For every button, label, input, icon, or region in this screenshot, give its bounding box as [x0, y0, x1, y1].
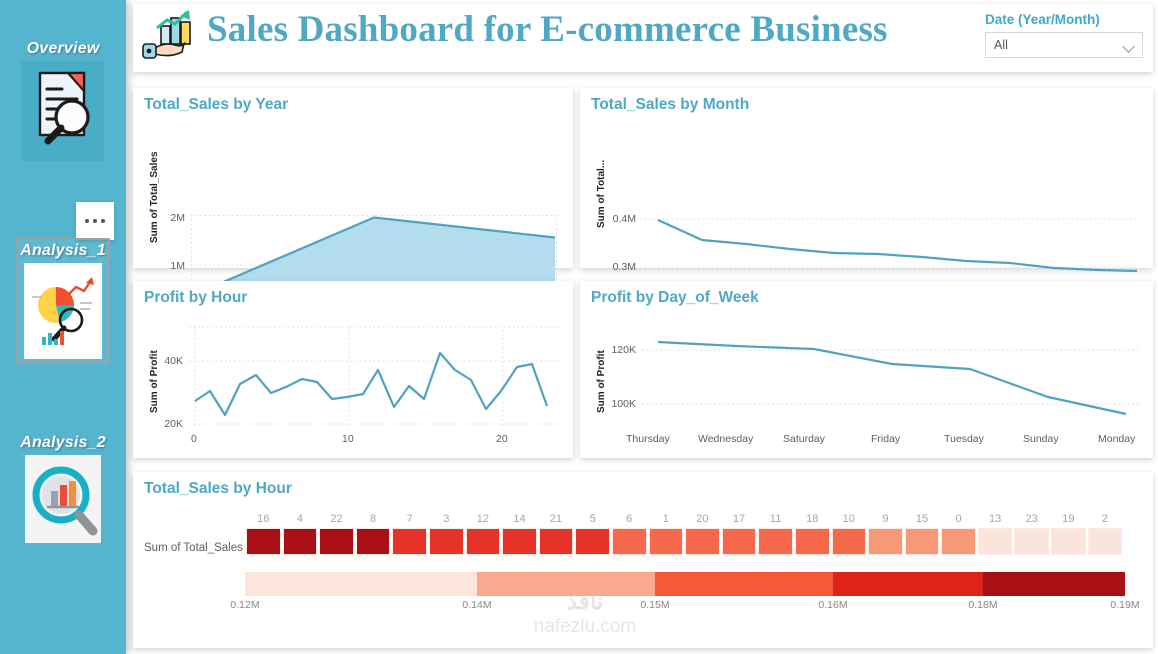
heatmap-column[interactable]: 15 — [904, 510, 941, 555]
heatmap-cell[interactable] — [1088, 528, 1123, 555]
date-filter-select[interactable]: All — [985, 32, 1143, 58]
heatmap-column-label: 20 — [696, 510, 708, 528]
heatmap-cell[interactable] — [539, 528, 574, 555]
heatmap-cell[interactable] — [502, 528, 537, 555]
heatmap-cell[interactable] — [941, 528, 976, 555]
heatmap-column-label: 8 — [370, 510, 376, 528]
heatmap-column[interactable]: 5 — [574, 510, 611, 555]
y-tick: 40K — [151, 355, 183, 367]
heatmap-column[interactable]: 0 — [940, 510, 977, 555]
x-tick: Tuesday — [944, 433, 984, 445]
heatmap-column-label: 11 — [770, 510, 781, 528]
heatmap-column[interactable]: 17 — [721, 510, 758, 555]
legend-tick: 0.14M — [462, 599, 491, 611]
chart-card-total-sales-by-hour: Total_Sales by Hour Sum of Total_Sales 1… — [133, 472, 1153, 648]
heatmap-column-label: 17 — [733, 510, 745, 528]
y-tick: 1M — [155, 260, 185, 272]
heatmap-column-label: 5 — [590, 510, 596, 528]
line-chart-plot — [642, 325, 1140, 425]
chart-card-profit-by-hour: Profit by Hour Sum of Profit 40K 20K 0 1… — [133, 281, 573, 458]
sidebar-item-analysis-1[interactable]: Analysis_1 — [0, 238, 126, 364]
heatmap-column[interactable]: 19 — [1050, 510, 1087, 555]
heatmap-column-label: 2 — [1102, 510, 1108, 528]
heatmap-row-label: Sum of Total_Sales — [144, 542, 243, 554]
more-options-icon[interactable] — [76, 202, 114, 240]
legend-gradient-bar[interactable] — [245, 572, 1125, 596]
dashboard-page: Overview — [0, 0, 1158, 654]
date-filter-label: Date (Year/Month) — [985, 12, 1143, 27]
heatmap-column[interactable]: 9 — [867, 510, 904, 555]
chart-card-total-sales-by-year: Total_Sales by Year Sum of Total_Sales 2… — [133, 88, 573, 268]
heatmap-column-label: 3 — [443, 510, 449, 528]
legend-tick: 0.18M — [968, 599, 997, 611]
heatmap-cell[interactable] — [575, 528, 610, 555]
heatmap-cell[interactable] — [832, 528, 867, 555]
x-tick: Thursday — [626, 433, 670, 445]
heatmap-column-label: 0 — [956, 510, 962, 528]
heatmap-cell[interactable] — [392, 528, 427, 555]
document-magnifier-icon — [22, 61, 104, 161]
x-tick: 10 — [342, 433, 354, 445]
heatmap-column-label: 21 — [550, 510, 562, 528]
heatmap-column-label: 23 — [1026, 510, 1038, 528]
heatmap-column-label: 19 — [1062, 510, 1074, 528]
chart-title: Profit by Day_of_Week — [591, 289, 759, 307]
heatmap-column-label: 9 — [882, 510, 888, 528]
y-tick: 0.3M — [600, 261, 636, 273]
chevron-down-icon[interactable] — [1122, 40, 1135, 53]
page-title: Sales Dashboard for E-commerce Business — [207, 8, 888, 51]
heatmap-cell[interactable] — [246, 528, 281, 555]
heatmap-column[interactable]: 23 — [1013, 510, 1050, 555]
date-filter: Date (Year/Month) All — [985, 12, 1143, 58]
chart-title: Total_Sales by Year — [144, 96, 288, 114]
heatmap-cell[interactable] — [795, 528, 830, 555]
sidebar-item-analysis-2-label: Analysis_2 — [0, 434, 126, 452]
heatmap-column[interactable]: 21 — [538, 510, 575, 555]
legend-tick: 0.15M — [640, 599, 669, 611]
heatmap-cell[interactable] — [466, 528, 501, 555]
heatmap-cell[interactable] — [356, 528, 391, 555]
y-axis-title: Sum of Total_Sales — [149, 151, 160, 243]
x-tick: Saturday — [783, 433, 825, 445]
x-tick: Monday — [1098, 433, 1135, 445]
heatmap-cell[interactable] — [685, 528, 720, 555]
y-tick: 0.4M — [600, 213, 636, 225]
legend-segment[interactable] — [477, 572, 655, 596]
sidebar-item-overview[interactable]: Overview — [0, 40, 126, 161]
heatmap-column[interactable]: 20 — [684, 510, 721, 555]
chart-title: Total_Sales by Hour — [144, 480, 292, 498]
y-tick: 2M — [155, 212, 185, 224]
chart-card-profit-by-day-of-week: Profit by Day_of_Week Sum of Profit 120K… — [580, 281, 1153, 458]
heatmap-column-label: 4 — [297, 510, 303, 528]
heatmap-cell[interactable] — [1051, 528, 1086, 555]
line-chart-plot — [640, 218, 1140, 280]
heatmap-cell[interactable] — [612, 528, 647, 555]
heatmap-column-label: 10 — [843, 510, 855, 528]
heatmap-column[interactable]: 16 — [245, 510, 282, 555]
x-tick: 20 — [496, 433, 508, 445]
legend-tick: 0.12M — [230, 599, 259, 611]
hand-holding-growth-chart-icon — [139, 8, 201, 64]
x-tick: 0 — [191, 433, 197, 445]
heatmap-column[interactable]: 12 — [465, 510, 502, 555]
heatmap-cell[interactable] — [1014, 528, 1049, 555]
heatmap-column[interactable]: 3 — [428, 510, 465, 555]
date-filter-value: All — [994, 38, 1008, 52]
heatmap-cells[interactable]: 16422873121421561201711181091501323192 — [245, 510, 1123, 555]
chart-card-total-sales-by-month: Total_Sales by Month Sum of Total... 0.4… — [580, 88, 1153, 268]
heatmap-column-label: 1 — [663, 510, 669, 528]
heatmap-legend: 0.12M0.14M0.15M0.16M0.18M0.19M — [245, 572, 1125, 615]
heatmap-column[interactable]: 10 — [831, 510, 868, 555]
heatmap-column-label: 15 — [916, 510, 928, 528]
heatmap-column[interactable]: 4 — [282, 510, 319, 555]
y-tick: 100K — [594, 398, 636, 410]
sidebar-item-overview-label: Overview — [0, 40, 126, 58]
y-tick: 20K — [151, 418, 183, 430]
y-tick: 120K — [594, 344, 636, 356]
line-chart-plot — [189, 325, 559, 429]
heatmap-column[interactable]: 6 — [611, 510, 648, 555]
sidebar-item-analysis-2[interactable]: Analysis_2 — [0, 434, 126, 543]
x-tick: Friday — [871, 433, 900, 445]
heatmap-column-label: 12 — [477, 510, 489, 528]
heatmap-column-label: 16 — [257, 510, 269, 528]
x-tick: Sunday — [1023, 433, 1059, 445]
heatmap-column-label: 6 — [626, 510, 632, 528]
heatmap-column[interactable]: 8 — [355, 510, 392, 555]
sidebar-navigation: Overview — [0, 0, 126, 654]
x-tick: Wednesday — [698, 433, 753, 445]
legend-tick: 0.16M — [818, 599, 847, 611]
heatmap-column-label: 13 — [989, 510, 1001, 528]
legend-tick-labels: 0.12M0.14M0.15M0.16M0.18M0.19M — [245, 599, 1125, 615]
heatmap-column[interactable]: 22 — [318, 510, 355, 555]
legend-segment[interactable] — [655, 572, 833, 596]
pie-chart-magnifier-icon — [24, 263, 102, 359]
legend-segment[interactable] — [983, 572, 1125, 596]
heatmap-cell[interactable] — [758, 528, 793, 555]
bar-chart-magnifier-icon — [25, 455, 101, 543]
heatmap-cell[interactable] — [868, 528, 903, 555]
heatmap-cell[interactable] — [283, 528, 318, 555]
heatmap-column[interactable]: 11 — [757, 510, 794, 555]
heatmap-column[interactable]: 18 — [794, 510, 831, 555]
heatmap-column[interactable]: 14 — [501, 510, 538, 555]
heatmap-column[interactable]: 2 — [1087, 510, 1124, 555]
heatmap-column-label: 18 — [806, 510, 818, 528]
legend-segment[interactable] — [833, 572, 983, 596]
heatmap-column[interactable]: 13 — [977, 510, 1014, 555]
heatmap-cell[interactable] — [905, 528, 940, 555]
heatmap-column-label: 7 — [407, 510, 413, 528]
sidebar-item-analysis-1-label: Analysis_1 — [18, 242, 108, 260]
heatmap-column[interactable]: 7 — [391, 510, 428, 555]
heatmap-column-label: 22 — [330, 510, 342, 528]
heatmap-cell[interactable] — [319, 528, 354, 555]
heatmap-cell[interactable] — [722, 528, 757, 555]
heatmap-cell[interactable] — [649, 528, 684, 555]
chart-title: Profit by Hour — [144, 289, 247, 307]
heatmap-cell[interactable] — [978, 528, 1013, 555]
heatmap-column[interactable]: 1 — [648, 510, 685, 555]
legend-segment[interactable] — [245, 572, 477, 596]
dashboard-header: Sales Dashboard for E-commerce Business … — [133, 4, 1153, 72]
legend-tick: 0.19M — [1110, 599, 1139, 611]
heatmap-cell[interactable] — [429, 528, 464, 555]
chart-title: Total_Sales by Month — [591, 96, 749, 114]
heatmap-column-label: 14 — [513, 510, 525, 528]
